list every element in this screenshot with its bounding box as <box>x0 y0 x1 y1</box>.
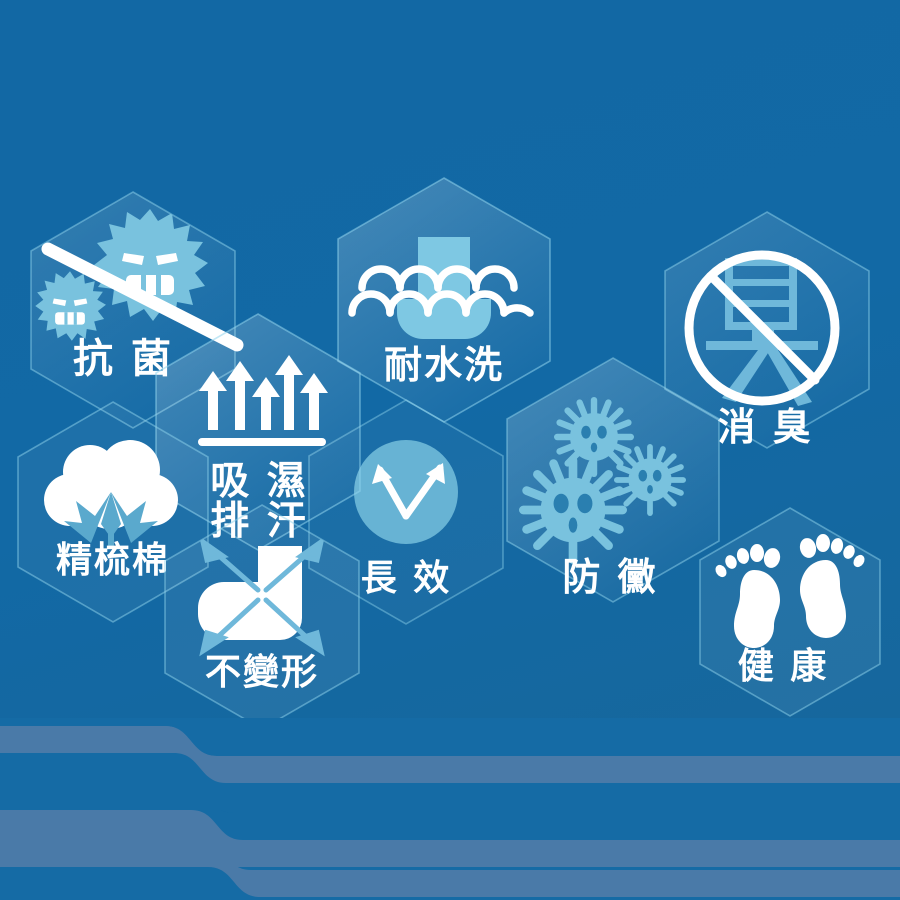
hex-no-deformation-label: 不變形 <box>205 652 319 693</box>
hex-deodorize-label: 消 臭 <box>717 405 812 449</box>
hex-moisture-wicking-label-line1: 吸 濕 <box>210 459 308 504</box>
hex-combed-cotton-label: 精梳棉 <box>56 540 170 581</box>
hex-anti-mold-label: 防 黴 <box>562 555 657 599</box>
hex-health-label: 健 康 <box>738 645 829 687</box>
poster-canvas: 耐水洗 <box>0 0 900 900</box>
bottom-decoration <box>0 718 900 900</box>
hex-long-lasting-label: 長 效 <box>361 558 452 599</box>
poster-svg: 耐水洗 <box>0 0 900 900</box>
moisture-bar <box>198 438 326 446</box>
hex-washable-label: 耐水洗 <box>384 343 504 387</box>
clock-arrows-icon <box>354 440 458 544</box>
